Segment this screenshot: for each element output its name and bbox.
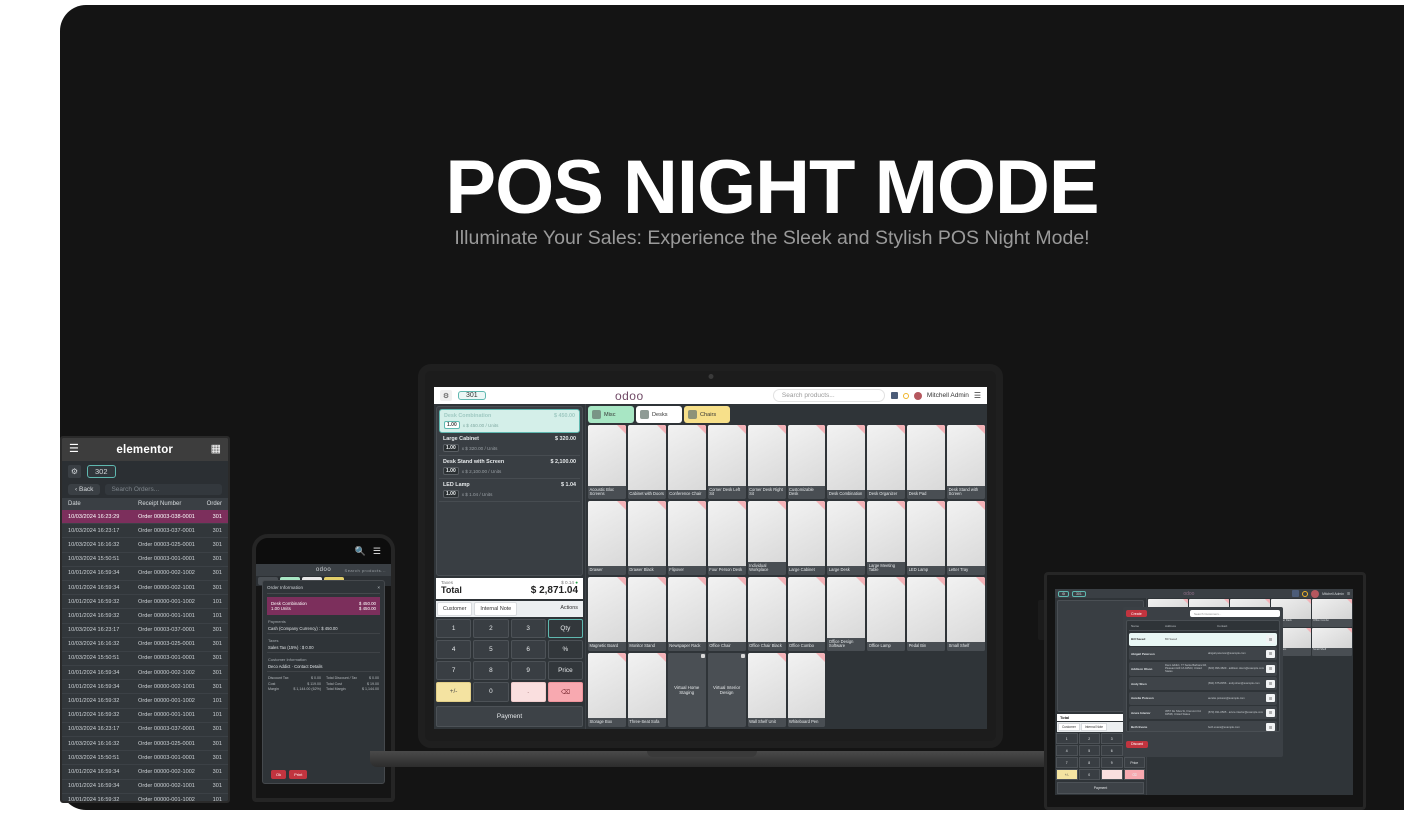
product-card[interactable]: Flipover bbox=[668, 501, 706, 575]
product-card[interactable]: Large Cabinet bbox=[788, 501, 826, 575]
product-image bbox=[788, 425, 826, 486]
phone-grid-row: Total Discount / Tax$ 0.00 bbox=[326, 676, 379, 680]
discount-corner-icon bbox=[777, 653, 786, 662]
orders-table-header: Date Receipt Number Order bbox=[62, 498, 228, 510]
grid-value: $ 119.00 bbox=[307, 682, 321, 686]
discount-corner-icon bbox=[816, 577, 825, 586]
right-numpad-key-8[interactable]: 8 bbox=[1079, 757, 1101, 768]
discount-corner-icon bbox=[617, 425, 626, 434]
grid-icon[interactable]: ▦ bbox=[211, 444, 221, 455]
numpad-key-7[interactable]: 7 bbox=[436, 661, 471, 680]
product-name: Monitor Stand bbox=[628, 642, 666, 651]
cell-date: 10/01/2024 16:59:32 bbox=[68, 797, 138, 803]
table-row[interactable]: 10/01/2024 16:59:32Order 00000-001-10021… bbox=[62, 794, 228, 803]
phone-search-input[interactable]: Search products... bbox=[345, 568, 386, 573]
phone-print-button[interactable]: Print bbox=[289, 770, 307, 779]
product-card[interactable]: LED Lamp bbox=[907, 501, 945, 575]
cell-receipt: Order 00003-001-0001 bbox=[138, 556, 202, 562]
right-numpad-key-[interactable]: ⌫ bbox=[1124, 769, 1146, 780]
cart-line-qty[interactable]: 1.00 bbox=[443, 490, 459, 498]
phone-sec3-value: Deco Addict · Contact Details bbox=[268, 664, 379, 669]
back-label: Back bbox=[79, 486, 93, 493]
total-value: $ 2,871.04 bbox=[531, 585, 578, 596]
discount-corner-icon bbox=[976, 577, 985, 586]
phone-modal-grid: Discount Tax$ 0.00Cost$ 119.00Margin$ 1,… bbox=[267, 672, 380, 697]
payment-button[interactable]: Payment bbox=[436, 706, 583, 727]
cell-order: 301 bbox=[202, 670, 222, 676]
search-icon[interactable]: 🔍 bbox=[355, 546, 366, 557]
cell-receipt: Order 00000-001-1002 bbox=[138, 797, 202, 803]
product-card[interactable]: Storage Box bbox=[588, 653, 626, 727]
customer-contact: abigail.peterson@example.com bbox=[1208, 652, 1266, 655]
phone-grid-row: Total Cost$ 19.00 bbox=[326, 682, 379, 686]
cell-receipt: Order 00000-002-1001 bbox=[138, 783, 202, 789]
numpad-key-5[interactable]: 5 bbox=[473, 640, 508, 659]
phone-grid-col-a: Discount Tax$ 0.00Cost$ 119.00Margin$ 1,… bbox=[268, 676, 321, 693]
customer-name: Azure Interior bbox=[1131, 711, 1165, 715]
customer-details-button[interactable]: ☰ bbox=[1266, 694, 1275, 702]
customer-details-button[interactable]: ☰ bbox=[1266, 650, 1275, 658]
numpad-key-6[interactable]: 6 bbox=[511, 640, 546, 659]
product-card[interactable]: Newspaper Rack bbox=[668, 577, 706, 651]
user-name[interactable]: Mitchell Admin bbox=[1322, 592, 1344, 596]
product-image bbox=[628, 425, 666, 490]
product-image bbox=[588, 425, 626, 486]
customer-rows: Bill SaeedBill Saeed☰Abigail Petersonabi… bbox=[1129, 633, 1277, 733]
table-row[interactable]: 10/01/2024 16:59:32Order 00000-001-10021… bbox=[62, 595, 228, 609]
product-image bbox=[867, 577, 905, 642]
category-tab-chairs[interactable]: Chairs bbox=[684, 406, 730, 423]
cell-order: 301 bbox=[202, 726, 222, 732]
customer-address: Deco Addict, 77 Santa Barbara Rd, Pleasa… bbox=[1165, 664, 1208, 673]
product-image bbox=[588, 653, 626, 718]
right-note-button[interactable]: Internal Note bbox=[1081, 723, 1107, 731]
product-name: Office Combo bbox=[788, 642, 826, 651]
customer-row[interactable]: Azure Interior4557 De Silva St, Fremont … bbox=[1129, 706, 1277, 719]
numpad-key-1[interactable]: 1 bbox=[436, 619, 471, 638]
discount-corner-icon bbox=[657, 577, 666, 586]
product-card[interactable]: Office Chair bbox=[708, 577, 746, 651]
right-numpad-key-0[interactable]: 0 bbox=[1079, 769, 1101, 780]
search-orders-input[interactable]: Search Orders... bbox=[105, 484, 222, 495]
phone-section-taxes: Taxes Sales Tax (15%) : $ 0.00 bbox=[267, 634, 380, 653]
product-card[interactable]: Virtual Home Staging bbox=[668, 653, 706, 727]
table-row[interactable]: 10/03/2024 16:23:17Order 00003-037-00013… bbox=[62, 624, 228, 638]
product-image bbox=[1312, 599, 1352, 619]
cell-receipt: Order 00000-001-1001 bbox=[138, 613, 202, 619]
product-name: Small Shelf bbox=[947, 642, 985, 651]
table-row[interactable]: 10/03/2024 16:16:32Order 00003-025-00013… bbox=[62, 638, 228, 652]
cell-receipt: Order 00003-037-0001 bbox=[138, 726, 202, 732]
product-name: Desk Combination bbox=[827, 490, 865, 499]
cart-line-price: $ 320.00 bbox=[555, 436, 576, 442]
calculator-icon[interactable] bbox=[1292, 590, 1299, 597]
misc-icon bbox=[592, 410, 601, 419]
odoo-logo: odoo bbox=[1089, 591, 1289, 597]
right-numpad-key-2[interactable]: 2 bbox=[1079, 733, 1101, 744]
category-tab-desks[interactable]: Desks bbox=[636, 406, 682, 423]
customer-row[interactable]: Andy Shen(694) 675-8356 · andy.shen@exam… bbox=[1129, 677, 1277, 690]
cell-date: 10/03/2024 16:23:17 bbox=[68, 726, 138, 732]
product-card[interactable]: Acoustic Bloc Screens bbox=[588, 425, 626, 499]
cell-order: 101 bbox=[202, 698, 222, 704]
cell-date: 10/03/2024 16:16:32 bbox=[68, 542, 138, 548]
numpad-key-[interactable]: . bbox=[511, 682, 546, 702]
numpad-key-8[interactable]: 8 bbox=[473, 661, 508, 680]
hamburger-icon[interactable]: ☰ bbox=[373, 546, 381, 557]
avatar[interactable] bbox=[1311, 590, 1319, 598]
product-name: Virtual Interior Design bbox=[708, 685, 746, 695]
product-name: Magnetic Board bbox=[588, 642, 626, 651]
discount-corner-icon bbox=[617, 577, 626, 586]
numpad-key-[interactable]: +/- bbox=[436, 682, 471, 702]
close-icon[interactable]: × bbox=[377, 585, 380, 590]
cell-date: 10/01/2024 16:59:32 bbox=[68, 613, 138, 619]
numpad-key-[interactable]: % bbox=[548, 640, 583, 659]
grid-value: $ 0.00 bbox=[311, 676, 321, 680]
session-badge[interactable]: 301 bbox=[458, 391, 486, 400]
product-image bbox=[907, 577, 945, 642]
table-row[interactable]: 10/01/2024 16:59:34Order 00000-002-10013… bbox=[62, 780, 228, 794]
customer-row[interactable]: Abigail Petersonabigail.peterson@example… bbox=[1129, 647, 1277, 660]
cart-line-qty[interactable]: 1.00 bbox=[443, 444, 459, 452]
sync-icon[interactable] bbox=[1302, 591, 1308, 597]
product-image bbox=[907, 501, 945, 566]
product-card[interactable]: Monitor Stand bbox=[628, 577, 666, 651]
table-row[interactable]: 10/03/2024 16:16:32Order 00003-025-00013… bbox=[62, 737, 228, 751]
customer-row[interactable]: Beth Evansbeth.evans@example.com☰ bbox=[1129, 721, 1277, 733]
customer-contact: (603) 996-3829 · addison.olson@example.c… bbox=[1208, 667, 1266, 670]
cell-order: 101 bbox=[202, 797, 222, 803]
product-card[interactable]: Small Shelf bbox=[1312, 628, 1352, 656]
product-name: Whiteboard Pen bbox=[788, 718, 826, 727]
orders-list: 10/03/2024 16:23:29Order 00003-038-00013… bbox=[62, 510, 228, 803]
cell-receipt: Order 00000-001-1002 bbox=[138, 698, 202, 704]
numpad-key-Qty[interactable]: Qty bbox=[548, 619, 583, 638]
right-numpad-key-7[interactable]: 7 bbox=[1056, 757, 1078, 768]
product-card[interactable]: Office Combo bbox=[788, 577, 826, 651]
customer-details-button[interactable]: ☰ bbox=[1266, 709, 1275, 717]
cart-line[interactable]: Desk Combination$ 450.001.00x $ 450.00 /… bbox=[439, 409, 580, 433]
customer-row[interactable]: Addison OlsonDeco Addict, 77 Santa Barba… bbox=[1129, 662, 1277, 676]
hamburger-icon[interactable]: ☰ bbox=[974, 391, 981, 400]
cart-line-name: Desk Combination bbox=[444, 413, 491, 419]
table-row[interactable]: 10/01/2024 16:59:34Order 00000-002-10023… bbox=[62, 765, 228, 779]
customer-address: Bill Saeed bbox=[1165, 638, 1208, 641]
right-numpad-key-Price[interactable]: Price bbox=[1124, 757, 1146, 768]
user-name[interactable]: Mitchell Admin bbox=[927, 392, 969, 399]
grid-label: Total Margin bbox=[326, 687, 346, 691]
grid-label: Discount Tax bbox=[268, 676, 289, 680]
cart-line-price: $ 2,100.00 bbox=[551, 459, 576, 465]
info-icon[interactable] bbox=[701, 654, 705, 658]
total-label: Total bbox=[441, 585, 462, 595]
product-card[interactable]: Office Chair Black bbox=[748, 577, 786, 651]
grid-value: $ 1,144.00 (62%) bbox=[293, 687, 321, 691]
numpad-key-9[interactable]: 9 bbox=[511, 661, 546, 680]
customer-details-button[interactable]: ☰ bbox=[1266, 680, 1275, 688]
numpad-key-Price[interactable]: Price bbox=[548, 661, 583, 680]
cell-order: 301 bbox=[202, 556, 222, 562]
discount-corner-icon bbox=[936, 425, 945, 434]
right-numpad-key-3[interactable]: 3 bbox=[1101, 733, 1123, 744]
numpad-key-3[interactable]: 3 bbox=[511, 619, 546, 638]
cell-date: 10/03/2024 15:50:51 bbox=[68, 755, 138, 761]
product-card[interactable]: Whiteboard Pen bbox=[788, 653, 826, 727]
cart-line-unit: x $ 2,100.00 / Units bbox=[462, 469, 502, 474]
product-card[interactable]: Pedal Bin bbox=[907, 577, 945, 651]
table-row[interactable]: 10/03/2024 16:16:32Order 00003-025-00013… bbox=[62, 538, 228, 552]
cart-line-unit: x $ 450.00 / Units bbox=[463, 423, 499, 428]
cell-receipt: Order 00000-002-1002 bbox=[138, 769, 202, 775]
numpad: 123Qty456%789Price+/-0.⌫ bbox=[434, 617, 585, 704]
gear-icon[interactable]: ⚙ bbox=[68, 465, 81, 478]
cart-line-qty[interactable]: 1.00 bbox=[444, 421, 460, 429]
product-card[interactable]: Office Lamp bbox=[867, 577, 905, 651]
pos-cart: Desk Combination$ 450.001.00x $ 450.00 /… bbox=[434, 404, 586, 729]
cell-receipt: Order 00003-001-0001 bbox=[138, 755, 202, 761]
product-card[interactable]: Letter Tray bbox=[947, 501, 985, 575]
phone-sec1-value: Cash (Company Currency) : $ 450.00 bbox=[268, 626, 379, 631]
product-name: Letter Tray bbox=[947, 566, 985, 575]
phone-pos-topbar: odoo Search products... bbox=[256, 564, 391, 576]
right-numpad-key-[interactable]: . bbox=[1101, 769, 1123, 780]
discount-corner-icon bbox=[697, 501, 706, 510]
customer-details-button[interactable]: ☰ bbox=[1266, 635, 1275, 643]
info-icon[interactable] bbox=[741, 654, 745, 658]
cart-lines: Desk Combination$ 450.001.00x $ 450.00 /… bbox=[436, 406, 583, 576]
sync-icon[interactable] bbox=[903, 393, 909, 399]
product-name: Three-Seat Sofa bbox=[628, 718, 666, 727]
product-card[interactable]: Desk Stand with Screen bbox=[947, 425, 985, 499]
table-row[interactable]: 10/03/2024 15:50:51Order 00003-001-00013… bbox=[62, 553, 228, 567]
discount-corner-icon bbox=[976, 501, 985, 510]
table-row[interactable]: 10/03/2024 16:23:17Order 00003-037-00013… bbox=[62, 723, 228, 737]
hamburger-icon[interactable]: ☰ bbox=[69, 444, 79, 455]
right-numpad-key-1[interactable]: 1 bbox=[1056, 733, 1078, 744]
product-card[interactable]: Drawer bbox=[588, 501, 626, 575]
customer-row[interactable]: Aurelie Poissonaurelie.poisson@example.c… bbox=[1129, 692, 1277, 705]
phone-sec2-value: Sales Tax (15%) : $ 0.00 bbox=[268, 645, 379, 650]
product-card[interactable]: Wall Shelf Unit bbox=[748, 653, 786, 727]
product-image bbox=[827, 425, 865, 490]
phone-hl-sub: 1.00 Units bbox=[271, 606, 307, 611]
product-name: Office Lamp bbox=[867, 642, 905, 651]
product-card[interactable]: Individual Workplace bbox=[748, 501, 786, 575]
product-name: Desk Stand with Screen bbox=[947, 486, 985, 499]
product-name: Flipover bbox=[668, 566, 706, 575]
product-name: Conference Chair bbox=[668, 490, 706, 499]
table-row[interactable]: 10/03/2024 16:23:17Order 00003-037-00013… bbox=[62, 524, 228, 538]
customer-name: Addison Olson bbox=[1131, 667, 1165, 671]
discount-corner-icon bbox=[856, 501, 865, 510]
col-date: Date bbox=[68, 501, 138, 507]
discount-corner-icon bbox=[1265, 599, 1270, 604]
numpad-key-0[interactable]: 0 bbox=[473, 682, 508, 702]
right-numpad-key-6[interactable]: 6 bbox=[1101, 745, 1123, 756]
session-badge[interactable]: 302 bbox=[87, 465, 116, 478]
customer-name: Abigail Peterson bbox=[1131, 652, 1165, 656]
cart-actions-spacer bbox=[519, 602, 554, 616]
discount-corner-icon bbox=[697, 425, 706, 434]
product-card[interactable]: Desk Pad bbox=[907, 425, 945, 499]
product-image bbox=[748, 501, 786, 562]
cell-order: 301 bbox=[202, 741, 222, 747]
table-row[interactable]: 10/03/2024 15:50:51Order 00003-001-00013… bbox=[62, 652, 228, 666]
cell-date: 10/03/2024 16:16:32 bbox=[68, 641, 138, 647]
cart-line-unit: x $ 1.04 / Units bbox=[462, 492, 493, 497]
category-label: Chairs bbox=[700, 412, 716, 418]
product-name: Large Cabinet bbox=[788, 566, 826, 575]
product-card[interactable]: Office Design Software bbox=[827, 577, 865, 651]
customer-details-button[interactable]: ☰ bbox=[1266, 665, 1275, 673]
elementor-brand: elementor bbox=[116, 444, 173, 456]
product-card[interactable]: Conference Chair bbox=[668, 425, 706, 499]
product-grid: Acoustic Bloc ScreensCabinet with DoorsC… bbox=[588, 425, 985, 727]
discount-corner-icon bbox=[657, 501, 666, 510]
discount-corner-icon bbox=[1347, 628, 1352, 633]
table-row[interactable]: 10/01/2024 16:59:32Order 00000-001-10011… bbox=[62, 609, 228, 623]
discard-button[interactable]: Discard bbox=[1126, 741, 1148, 748]
cell-date: 10/03/2024 16:23:17 bbox=[68, 528, 138, 534]
product-name: Acoustic Bloc Screens bbox=[588, 486, 626, 499]
customer-name: Bill Saeed bbox=[1131, 637, 1165, 641]
product-name: Office Chair bbox=[708, 642, 746, 651]
numpad-key-[interactable]: ⌫ bbox=[548, 682, 583, 702]
product-image bbox=[788, 501, 826, 566]
right-total-label: Total bbox=[1060, 715, 1069, 720]
cell-receipt: Order 00003-025-0001 bbox=[138, 741, 202, 747]
customer-contact: aurelie.poisson@example.com bbox=[1208, 697, 1266, 700]
customer-details-button[interactable]: ☰ bbox=[1266, 723, 1275, 731]
product-card[interactable]: Drawer Black bbox=[628, 501, 666, 575]
product-card[interactable]: Corner Desk Left Sit bbox=[708, 425, 746, 499]
poster-stage: POS NIGHT MODE Illuminate Your Sales: Ex… bbox=[0, 0, 1404, 815]
right-customer-button[interactable]: Customer bbox=[1058, 723, 1080, 731]
grid-label: Margin bbox=[268, 687, 279, 691]
cell-order: 301 bbox=[202, 514, 222, 520]
discount-corner-icon bbox=[657, 653, 666, 662]
cart-line-price: $ 1.04 bbox=[561, 482, 576, 488]
cell-receipt: Order 00003-025-0001 bbox=[138, 641, 202, 647]
hamburger-icon[interactable]: ☰ bbox=[1347, 592, 1350, 596]
session-badge[interactable]: 301 bbox=[1072, 591, 1086, 597]
right-numpad-key-9[interactable]: 9 bbox=[1101, 757, 1123, 768]
cell-order: 301 bbox=[202, 528, 222, 534]
phone-sec1-label: Payments bbox=[268, 619, 286, 624]
phone-modal-buttons: Ok Print bbox=[271, 770, 307, 779]
product-card[interactable]: Corner Desk Right Sit bbox=[748, 425, 786, 499]
product-card[interactable]: Customizable Desk bbox=[788, 425, 826, 499]
laptop-screen: ⚙ 301 odoo Search products... Mitchell A… bbox=[434, 387, 987, 729]
right-monitor-screen: ⚙ 301 odoo Mitchell Admin ☰ Total $ 4,50 bbox=[1055, 589, 1353, 795]
table-row[interactable]: 10/01/2024 16:59:32Order 00000-001-10011… bbox=[62, 709, 228, 723]
avatar[interactable] bbox=[914, 392, 922, 400]
back-button[interactable]: ‹ Back bbox=[68, 484, 100, 495]
table-row[interactable]: 10/03/2024 16:23:29Order 00003-038-00013… bbox=[62, 510, 228, 524]
cell-date: 10/03/2024 15:50:51 bbox=[68, 556, 138, 562]
calculator-icon[interactable] bbox=[891, 392, 898, 399]
cell-date: 10/03/2024 15:50:51 bbox=[68, 655, 138, 661]
product-card[interactable]: Virtual Interior Design bbox=[708, 653, 746, 727]
product-name: Storage Box bbox=[588, 718, 626, 727]
product-card[interactable]: Magnetic Board bbox=[588, 577, 626, 651]
table-row[interactable]: 10/01/2024 16:59:34Order 00000-002-10013… bbox=[62, 680, 228, 694]
discount-corner-icon bbox=[777, 577, 786, 586]
table-row[interactable]: 10/01/2024 16:59:34Order 00000-002-10023… bbox=[62, 666, 228, 680]
phone-modal-highlight-row[interactable]: Desk Combination 1.00 Units $ 450.00 $ 4… bbox=[267, 597, 380, 615]
cart-line[interactable]: LED Lamp$ 1.041.00x $ 1.04 / Units bbox=[439, 479, 580, 502]
discount-corner-icon bbox=[896, 577, 905, 586]
table-row[interactable]: 10/03/2024 15:50:51Order 00003-001-00013… bbox=[62, 751, 228, 765]
right-numpad-key-5[interactable]: 5 bbox=[1079, 745, 1101, 756]
product-card[interactable]: Four Person Desk bbox=[708, 501, 746, 575]
right-numpad-key-4[interactable]: 4 bbox=[1056, 745, 1078, 756]
search-products-input[interactable]: Search products... bbox=[773, 389, 885, 402]
cell-date: 10/01/2024 16:59:32 bbox=[68, 712, 138, 718]
left-session-bar: ⚙ 302 bbox=[62, 461, 228, 481]
category-tab-misc[interactable]: Misc bbox=[588, 406, 634, 423]
product-card[interactable]: Small Shelf bbox=[947, 577, 985, 651]
cart-line-price: $ 450.00 bbox=[554, 413, 575, 419]
cell-receipt: Order 00003-038-0001 bbox=[138, 514, 202, 520]
gear-icon[interactable]: ⚙ bbox=[440, 390, 452, 401]
customer-modal-header: Create Search Customers... bbox=[1126, 610, 1280, 617]
product-card[interactable]: Desk Organizer bbox=[867, 425, 905, 499]
gear-icon[interactable]: ⚙ bbox=[1058, 591, 1069, 597]
chair-icon bbox=[688, 410, 697, 419]
product-card[interactable]: Large Desk bbox=[827, 501, 865, 575]
customer-row[interactable]: Bill SaeedBill Saeed☰ bbox=[1129, 633, 1277, 646]
product-name: Individual Workplace bbox=[748, 562, 786, 575]
right-payment-button[interactable]: Payment bbox=[1057, 782, 1144, 794]
cart-line[interactable]: Large Cabinet$ 320.001.00x $ 320.00 / Un… bbox=[439, 433, 580, 456]
phone-modal-title: Order Information bbox=[267, 585, 303, 590]
table-row[interactable]: 10/01/2024 16:59:34Order 00000-002-10023… bbox=[62, 567, 228, 581]
actions-button[interactable]: Actions bbox=[556, 602, 582, 616]
product-card[interactable]: Large Meeting Table bbox=[867, 501, 905, 575]
cart-line[interactable]: Desk Stand with Screen$ 2,100.001.00x $ … bbox=[439, 456, 580, 479]
product-name: Virtual Home Staging bbox=[668, 685, 706, 695]
product-image bbox=[628, 577, 666, 642]
numpad-key-2[interactable]: 2 bbox=[473, 619, 508, 638]
phone-statusbar: 🔍 ☰ bbox=[256, 538, 391, 564]
product-name: Desk Organizer bbox=[867, 490, 905, 499]
customer-select-modal: Create Search Customers... Name Address … bbox=[1123, 607, 1283, 757]
table-row[interactable]: 10/01/2024 16:59:34Order 00000-002-10013… bbox=[62, 581, 228, 595]
discount-corner-icon bbox=[1306, 599, 1311, 604]
phone-ok-button[interactable]: Ok bbox=[271, 770, 286, 779]
category-label: Desks bbox=[652, 412, 668, 418]
category-tabs: MiscDesksChairs bbox=[588, 406, 985, 423]
internal-note-button[interactable]: Internal Note bbox=[474, 602, 517, 616]
table-row[interactable]: 10/01/2024 16:59:32Order 00000-001-10021… bbox=[62, 694, 228, 708]
product-card[interactable]: Cabinet with Doors bbox=[628, 425, 666, 499]
customer-button[interactable]: Customer bbox=[437, 602, 472, 616]
product-card[interactable]: Office Combo bbox=[1312, 599, 1352, 627]
laptop-base-notch bbox=[647, 751, 757, 757]
numpad-key-4[interactable]: 4 bbox=[436, 640, 471, 659]
customer-address: 4557 De Silva St, Fremont CA 94538, Unit… bbox=[1165, 710, 1208, 716]
product-name: Desk Pad bbox=[907, 490, 945, 499]
product-name: Newspaper Rack bbox=[668, 642, 706, 651]
product-card[interactable]: Desk Combination bbox=[827, 425, 865, 499]
cart-line-qty[interactable]: 1.00 bbox=[443, 467, 459, 475]
product-card[interactable]: Three-Seat Sofa bbox=[628, 653, 666, 727]
search-customers-input[interactable]: Search Customers... bbox=[1190, 610, 1280, 617]
right-numpad-key-[interactable]: +/- bbox=[1056, 769, 1078, 780]
create-customer-button[interactable]: Create bbox=[1126, 610, 1147, 617]
